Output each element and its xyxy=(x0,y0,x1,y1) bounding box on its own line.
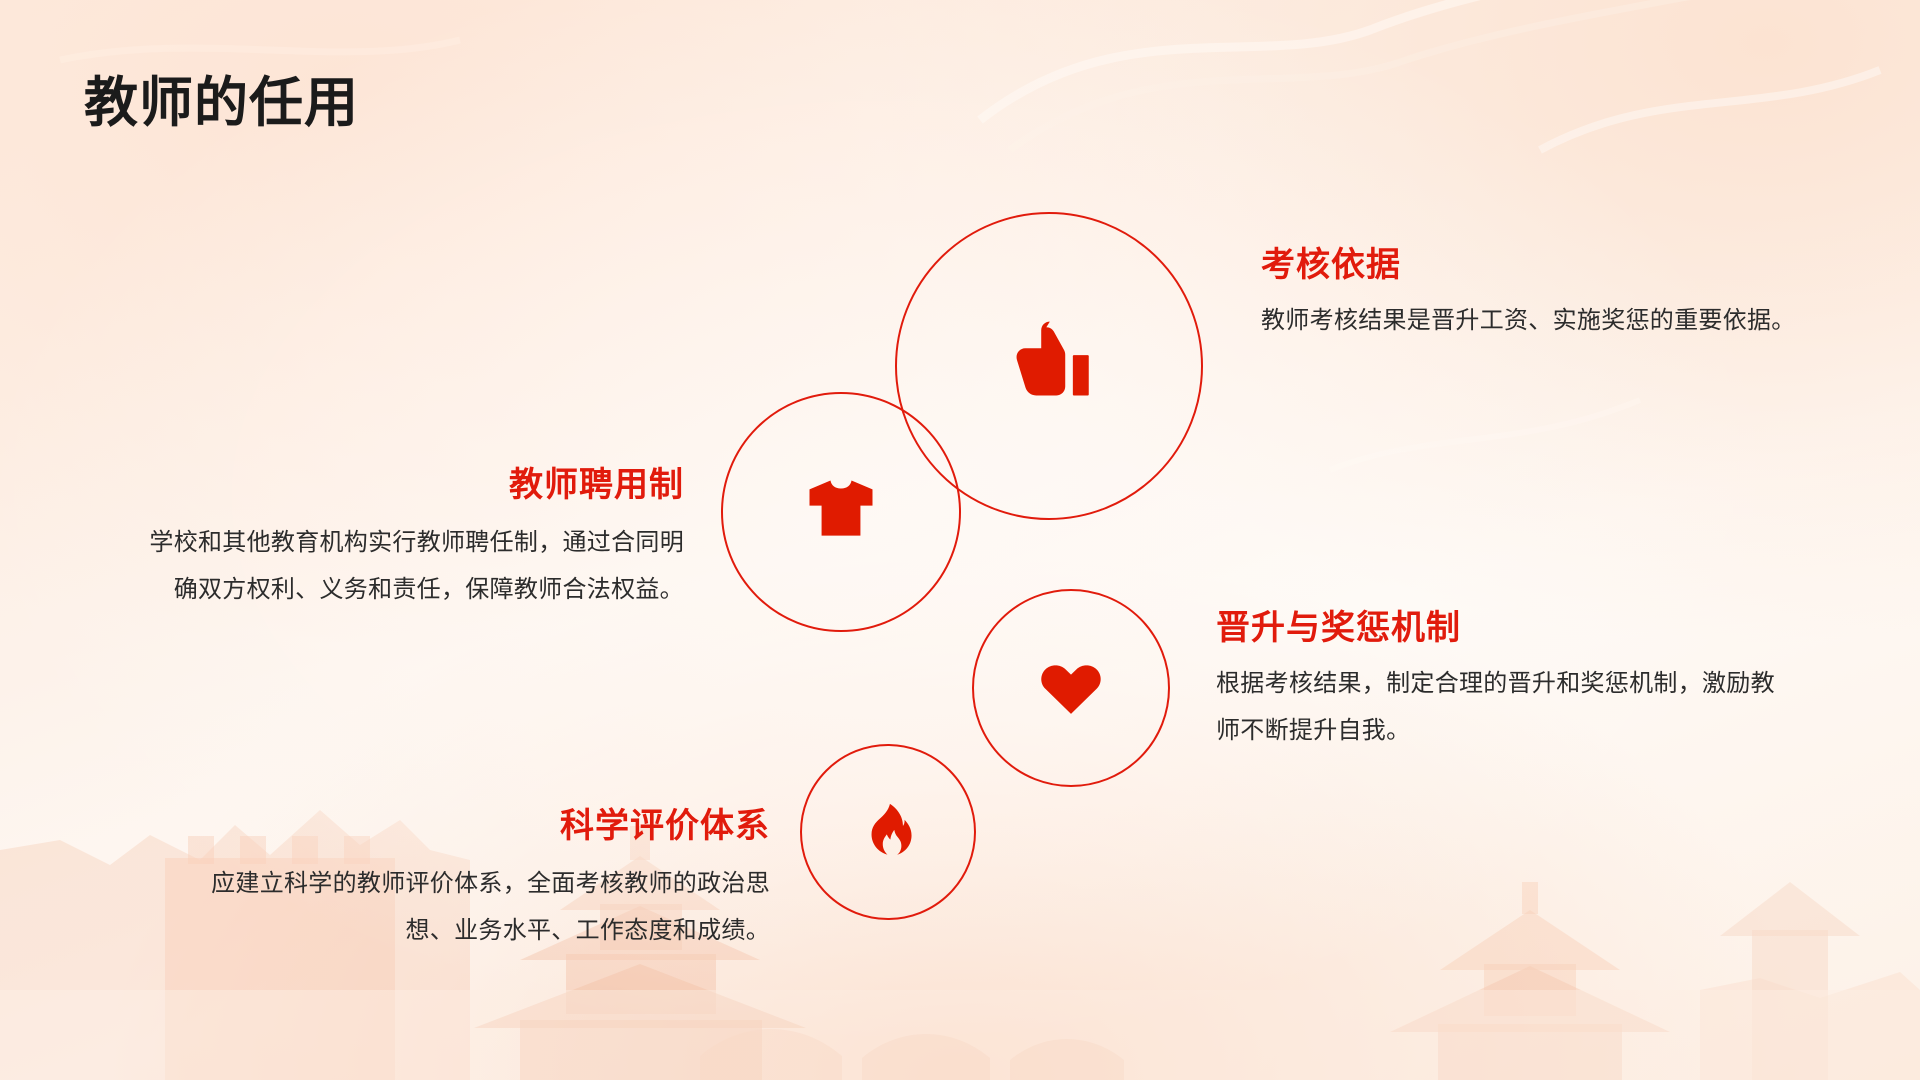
block-body-appraisal-basis: 教师考核结果是晋升工资、实施奖惩的重要依据。 xyxy=(1261,298,1821,345)
text-block-scientific-evaluation-system: 科学评价体系 应建立科学的教师评价体系，全面考核教师的政治思想、业务水平、工作态… xyxy=(210,806,770,954)
page-title: 教师的任用 xyxy=(84,72,359,134)
slide-canvas: 教师的任用 xyxy=(0,0,1920,1080)
block-body-scientific-evaluation-system: 应建立科学的教师评价体系，全面考核教师的政治思想、业务水平、工作态度和成绩。 xyxy=(210,861,770,955)
block-body-promotion-reward-penalty: 根据考核结果，制定合理的晋升和奖惩机制，激励教师不断提升自我。 xyxy=(1216,661,1778,755)
block-heading-teacher-appointment-system: 教师聘用制 xyxy=(128,465,684,506)
block-heading-appraisal-basis: 考核依据 xyxy=(1261,245,1821,286)
block-heading-promotion-reward-penalty: 晋升与奖惩机制 xyxy=(1216,608,1778,649)
icon-circle-scientific-evaluation-system[interactable] xyxy=(800,744,976,920)
heart-icon xyxy=(1034,651,1108,725)
thumbs-up-icon xyxy=(996,313,1102,419)
text-block-teacher-appointment-system: 教师聘用制 学校和其他教育机构实行教师聘任制，通过合同明确双方权利、义务和责任，… xyxy=(128,465,684,613)
text-block-appraisal-basis: 考核依据 教师考核结果是晋升工资、实施奖惩的重要依据。 xyxy=(1261,245,1821,345)
icon-circle-promotion-reward-penalty[interactable] xyxy=(972,589,1170,787)
block-heading-scientific-evaluation-system: 科学评价体系 xyxy=(210,806,770,847)
tshirt-icon xyxy=(799,470,883,554)
text-block-promotion-reward-penalty: 晋升与奖惩机制 根据考核结果，制定合理的晋升和奖惩机制，激励教师不断提升自我。 xyxy=(1216,608,1778,754)
icon-circle-teacher-appointment-system[interactable] xyxy=(721,392,961,632)
flame-icon xyxy=(857,801,919,863)
block-body-teacher-appointment-system: 学校和其他教育机构实行教师聘任制，通过合同明确双方权利、义务和责任，保障教师合法… xyxy=(128,520,684,614)
